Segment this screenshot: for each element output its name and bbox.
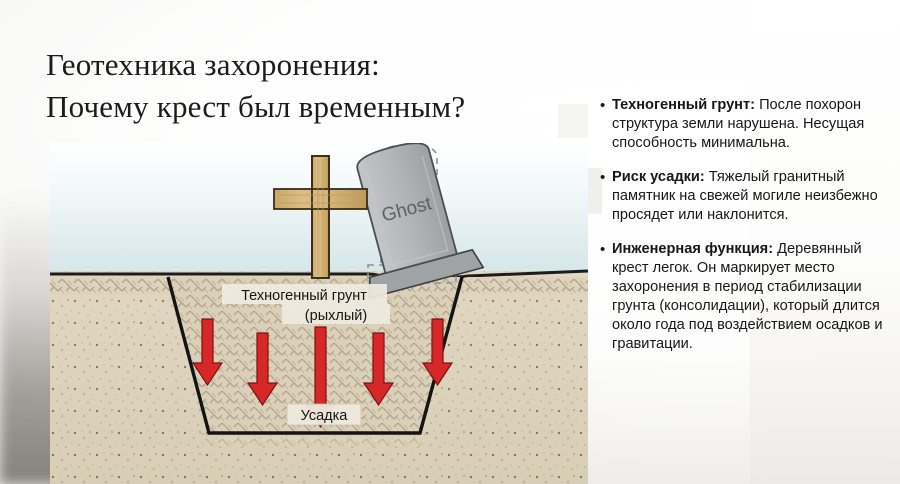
bullet-text: Риск усадки: Тяжелый гранитный памятник … [612,168,892,225]
soil-label-line-1: Техногенный грунт [241,288,367,304]
bullet-marker: • [600,240,612,354]
list-item: • Техногенный грунт: После похорон струк… [600,96,892,153]
bullet-lead: Техногенный грунт: [612,97,755,113]
page-title-line-1: Геотехника захоронения: [46,44,566,86]
bullet-marker: • [600,96,612,153]
bullet-body: Деревянный крест легок. Он маркирует мес… [612,241,883,352]
bullet-marker: • [600,168,612,225]
page-title: Геотехника захоронения: Почему крест был… [46,44,566,128]
list-item: • Риск усадки: Тяжелый гранитный памятни… [600,168,892,225]
bullet-lead: Риск усадки: [612,169,705,185]
soil-label-line-2: (рыхлый) [305,308,367,324]
list-item: • Инженерная функция: Деревянный крест л… [600,240,892,354]
settlement-label-text: Усадка [301,408,349,424]
bullet-lead: Инженерная функция: [612,241,773,257]
burial-geotechnics-diagram: Ghost Техногенный грунт (рыхлый) Усадка [50,143,588,484]
bullet-text: Инженерная функция: Деревянный крест лег… [612,240,892,354]
page-title-line-2: Почему крест был временным? [46,86,566,128]
settlement-label: Усадка [287,404,361,425]
bullet-list: • Техногенный грунт: После похорон струк… [600,96,892,369]
bullet-text: Техногенный грунт: После похорон структу… [612,96,892,153]
